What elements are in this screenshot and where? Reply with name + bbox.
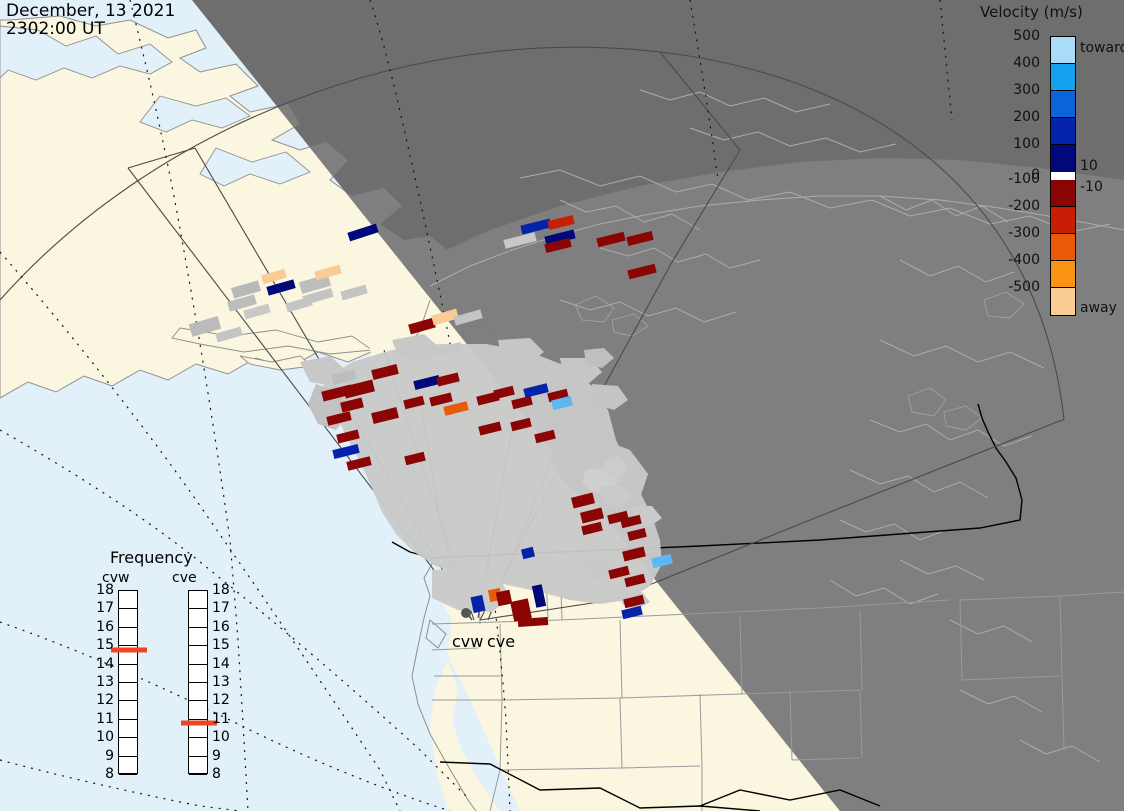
frequency-cell-cve-17: [189, 609, 207, 627]
velocity-colorbar-title: Velocity (m/s): [980, 3, 1083, 21]
frequency-tick-cvw-16: 16: [96, 619, 114, 635]
frequency-tick-cvw-11: 11: [96, 711, 114, 727]
velocity-tick--400: -400: [1008, 252, 1040, 268]
velocity-tick-400: 400: [1013, 55, 1040, 71]
frequency-tick-cvw-8: 8: [96, 766, 114, 782]
frequency-column-title-cve: cve: [172, 570, 197, 586]
frequency-cell-cve-15: [189, 646, 207, 664]
frequency-tick-cve-12: 12: [212, 692, 230, 708]
scatter-cell: [496, 590, 513, 607]
frequency-tick-cve-13: 13: [212, 674, 230, 690]
velocity-tick-100: 100: [1013, 136, 1040, 152]
velocity-tick-300: 300: [1013, 82, 1040, 98]
velocity-swatch-4: [1051, 145, 1075, 172]
frequency-tick-cvw-15: 15: [96, 637, 114, 653]
frequency-cell-cvw-18: [119, 591, 137, 609]
velocity-tick--200: -200: [1008, 198, 1040, 214]
frequency-cell-cve-10: [189, 738, 207, 756]
radar-site-marker[interactable]: [461, 608, 471, 618]
frequency-tick-cvw-12: 12: [96, 692, 114, 708]
velocity-label-minus10: -10: [1080, 179, 1103, 195]
velocity-colorbar-swatches[interactable]: [1050, 36, 1076, 316]
frequency-cell-cvw-17: [119, 609, 137, 627]
frequency-tick-cve-10: 10: [212, 729, 230, 745]
radar-map-view: December, 13 2021 2302:00 UT cvw cve Vel…: [0, 0, 1124, 811]
frequency-cell-cvw-11: [119, 720, 137, 738]
frequency-cell-cve-14: [189, 665, 207, 683]
frequency-cell-cve-12: [189, 701, 207, 719]
velocity-tick--300: -300: [1008, 225, 1040, 241]
frequency-cell-cvw-14: [119, 665, 137, 683]
frequency-cell-cvw-13: [119, 683, 137, 701]
velocity-swatch-2: [1051, 91, 1075, 118]
velocity-tick-200: 200: [1013, 109, 1040, 125]
frequency-cell-cve-18: [189, 591, 207, 609]
velocity-swatch-6: [1051, 180, 1075, 207]
frequency-tick-cvw-17: 17: [96, 600, 114, 616]
frequency-tick-cve-15: 15: [212, 637, 230, 653]
frequency-cell-cve-16: [189, 628, 207, 646]
frequency-legend: Frequency cvw cve 18171615141312111098 1…: [96, 548, 236, 786]
frequency-bar-cve[interactable]: [188, 590, 208, 774]
velocity-tick--500: -500: [1008, 279, 1040, 295]
frequency-tick-cve-16: 16: [212, 619, 230, 635]
site-label-cvw: cvw: [452, 632, 483, 651]
velocity-colorbar-side-labels: toward10-10away: [1080, 28, 1124, 328]
frequency-cell-cvw-9: [119, 757, 137, 775]
title-time: 2302:00 UT: [6, 20, 175, 38]
velocity-swatch-9: [1051, 261, 1075, 288]
frequency-tick-cve-14: 14: [212, 656, 230, 672]
velocity-swatch-8: [1051, 234, 1075, 261]
frequency-cell-cve-13: [189, 683, 207, 701]
frequency-tick-cvw-14: 14: [96, 656, 114, 672]
frequency-cell-cvw-10: [119, 738, 137, 756]
velocity-swatch-10: [1051, 288, 1075, 315]
frequency-tick-cvw-13: 13: [96, 674, 114, 690]
frequency-tick-cvw-18: 18: [96, 582, 114, 598]
velocity-tick--100: -100: [1008, 171, 1040, 187]
velocity-swatch-5: [1051, 172, 1075, 180]
velocity-swatch-0: [1051, 37, 1075, 64]
frequency-tick-cve-8: 8: [212, 766, 221, 782]
frequency-tick-cvw-9: 9: [96, 748, 114, 764]
frequency-cell-cvw-16: [119, 628, 137, 646]
timestamp-title: December, 13 2021 2302:00 UT: [6, 2, 175, 38]
frequency-tick-cve-18: 18: [212, 582, 230, 598]
frequency-cell-cvw-12: [119, 701, 137, 719]
frequency-marker-cvw: [111, 647, 147, 652]
velocity-swatch-7: [1051, 207, 1075, 234]
frequency-tick-cvw-10: 10: [96, 729, 114, 745]
frequency-tick-cve-17: 17: [212, 600, 230, 616]
velocity-swatch-3: [1051, 118, 1075, 145]
title-date: December, 13 2021: [6, 2, 175, 20]
frequency-tick-cve-11: 11: [212, 711, 230, 727]
frequency-legend-title: Frequency: [110, 548, 193, 567]
velocity-swatch-1: [1051, 64, 1075, 91]
frequency-bar-cvw[interactable]: [118, 590, 138, 774]
frequency-tick-cve-9: 9: [212, 748, 221, 764]
velocity-label-toward: toward: [1080, 40, 1124, 56]
velocity-label-away: away: [1080, 300, 1117, 316]
velocity-colorbar-ticks: 5004003002001000-100-200-300-400-500: [976, 28, 1046, 324]
frequency-cell-cve-9: [189, 757, 207, 775]
velocity-tick-500: 500: [1013, 28, 1040, 44]
velocity-colorbar: Velocity (m/s) 5004003002001000-100-200-…: [976, 0, 1124, 340]
velocity-label-plus10: 10: [1080, 158, 1098, 174]
site-label-cve: cve: [487, 632, 515, 651]
